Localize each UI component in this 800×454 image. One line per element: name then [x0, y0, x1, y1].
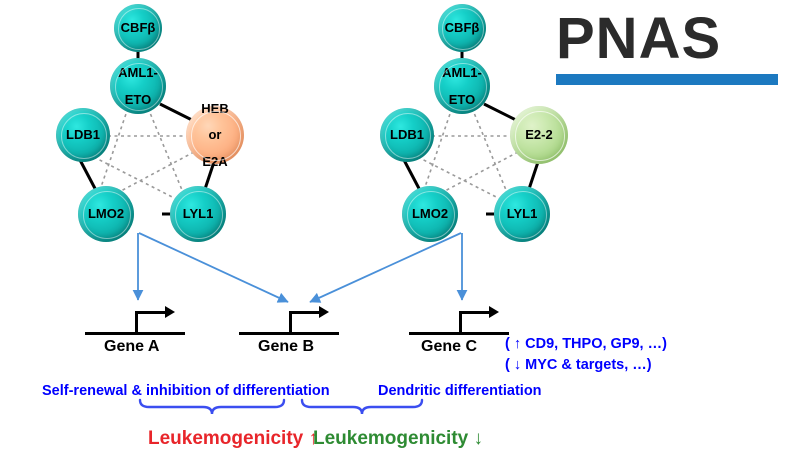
node-label: CBFβ [445, 21, 480, 34]
right-brace [302, 400, 422, 414]
figure-canvas: CBFβ AML1- ETO LDB1 HEB or E2A LMO2 LYL1 [0, 0, 800, 454]
tss-arm [135, 311, 167, 314]
node-label-line2: ETO [118, 93, 158, 106]
node-label: LDB1 [66, 128, 100, 141]
arrow-right-to-gene-b [310, 233, 461, 302]
node-label: E2-2 [525, 128, 552, 141]
node-label-line2: ETO [442, 93, 482, 106]
node-label-line1: AML1- [442, 66, 482, 79]
leukemogenicity-decreased-label: Leukemogenicity ↓ [313, 428, 483, 450]
gene-c-label: Gene C [421, 338, 477, 356]
node-label: LYL1 [183, 207, 214, 220]
node-heb-e2a[interactable]: HEB or E2A [186, 106, 244, 164]
tss-riser [459, 311, 462, 335]
tss-arrowhead [319, 306, 329, 318]
node-label-line2: or [201, 128, 228, 141]
tss-arm [289, 311, 321, 314]
node-label: CBFβ [121, 21, 156, 34]
tss-arrowhead [489, 306, 499, 318]
node-lmo2[interactable]: LMO2 [78, 186, 134, 242]
node-label: LMO2 [88, 207, 124, 220]
node-lyl1[interactable]: LYL1 [494, 186, 550, 242]
node-e2-2[interactable]: E2-2 [510, 106, 568, 164]
gene-a-label: Gene A [104, 338, 159, 356]
gene-c-upregulated-annotation: ( ↑ CD9, THPO, GP9, …) [505, 336, 667, 352]
left-brace [140, 400, 284, 414]
node-label: LYL1 [507, 207, 538, 220]
node-cbfb[interactable]: CBFβ [438, 4, 486, 52]
node-label: AML1- ETO [118, 66, 158, 106]
left-process-label: Self-renewal & inhibition of differentia… [42, 383, 330, 399]
leukemogenicity-increased-label: Leukemogenicity ↑ [148, 428, 318, 450]
arrow-left-to-gene-b [139, 233, 288, 302]
node-lyl1[interactable]: LYL1 [170, 186, 226, 242]
node-lmo2[interactable]: LMO2 [402, 186, 458, 242]
node-label: LMO2 [412, 207, 448, 220]
node-label: LDB1 [390, 128, 424, 141]
node-label: HEB or E2A [201, 102, 228, 168]
right-process-label: Dendritic differentiation [378, 383, 542, 399]
outcome-braces [0, 398, 800, 424]
node-ldb1[interactable]: LDB1 [56, 108, 110, 162]
node-aml1-eto[interactable]: AML1- ETO [434, 58, 490, 114]
tss-arm [459, 311, 491, 314]
tss-arrowhead [165, 306, 175, 318]
node-ldb1[interactable]: LDB1 [380, 108, 434, 162]
node-label: AML1- ETO [442, 66, 482, 106]
node-label-line1: AML1- [118, 66, 158, 79]
gene-b-label: Gene B [258, 338, 314, 356]
node-cbfb[interactable]: CBFβ [114, 4, 162, 52]
tss-riser [135, 311, 138, 335]
node-aml1-eto[interactable]: AML1- ETO [110, 58, 166, 114]
gene-c-downregulated-annotation: ( ↓ MYC & targets, …) [505, 357, 652, 373]
tss-riser [289, 311, 292, 335]
